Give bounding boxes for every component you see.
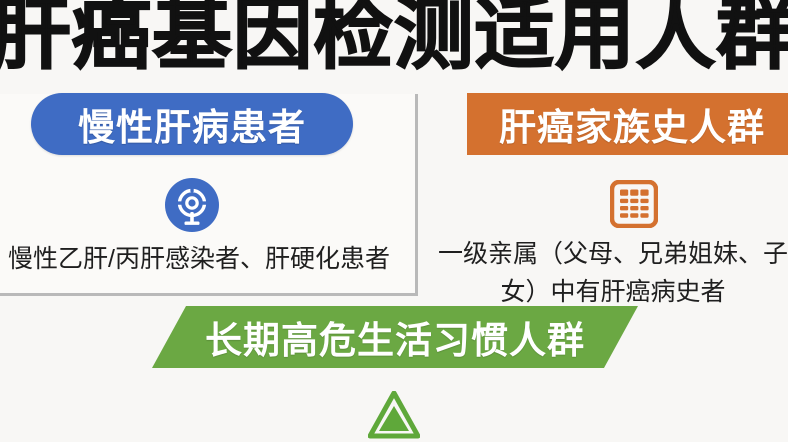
badge-high-risk-lifestyle-label: 长期高危生活习惯人群	[205, 310, 585, 364]
badge-family-history[interactable]: 肝癌家族史人群	[467, 93, 788, 155]
badge-chronic-liver-disease[interactable]: 慢性肝病患者	[31, 93, 353, 155]
description-family-history: 一级亲属（父母、兄弟姐妹、子 女）中有肝癌病史者	[430, 235, 788, 311]
description-chronic-liver-disease: 慢性乙肝/丙肝感染者、肝硬化患者	[0, 242, 414, 276]
badge-high-risk-lifestyle[interactable]: 长期高危生活习惯人群	[152, 306, 638, 368]
target-circle-icon	[164, 177, 220, 233]
description-family-history-line2: 女）中有肝癌病史者	[430, 273, 788, 311]
description-family-history-line1: 一级亲属（父母、兄弟姐妹、子	[430, 235, 788, 273]
grid-table-icon	[610, 180, 658, 228]
infographic-poster: 肝癌基因检测适用人群 慢性肝病患者 肝癌家族史人群	[0, 0, 788, 442]
triangle-warning-icon	[368, 391, 420, 439]
page-title-text: 肝癌基因检测适用人群	[0, 0, 788, 79]
badge-chronic-liver-disease-label: 慢性肝病患者	[78, 97, 306, 151]
badge-family-history-label: 肝癌家族史人群	[499, 97, 765, 151]
page-title: 肝癌基因检测适用人群	[0, 0, 788, 82]
